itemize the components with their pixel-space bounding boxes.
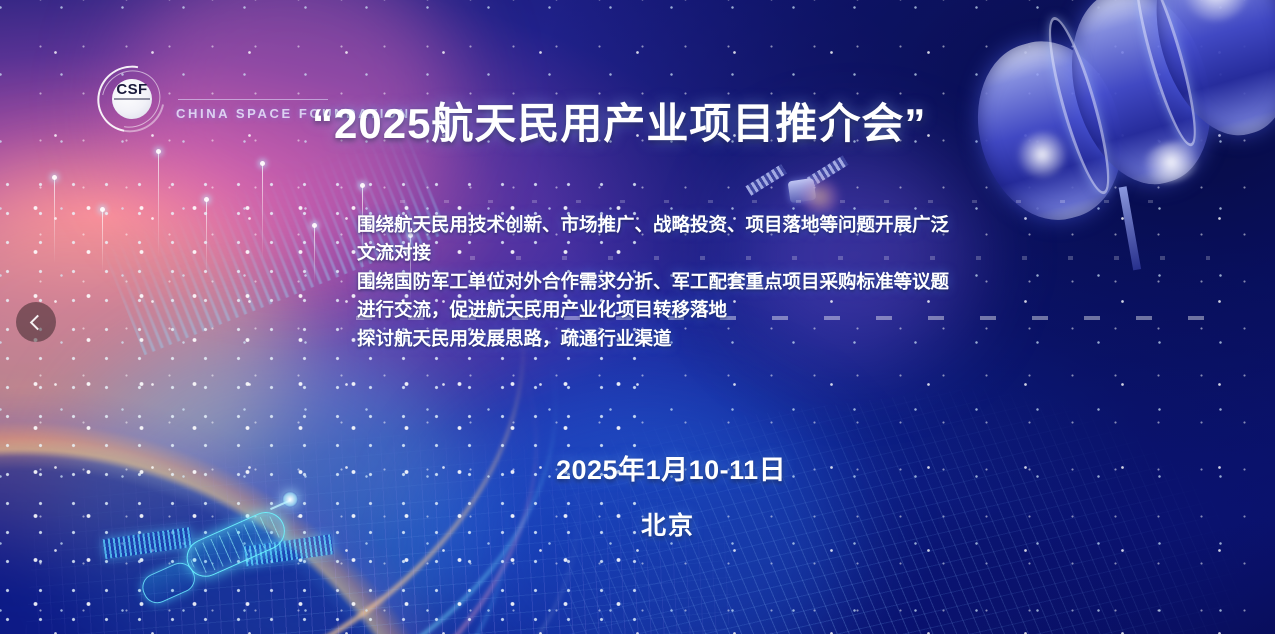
description-block: 围绕航天民用技术创新、市场推广、战略投资、项目落地等问题开展广泛文流对接 围绕国… <box>357 211 957 354</box>
right-gutter <box>1275 0 1283 634</box>
page-title: “2025航天民用产业项目推介会” <box>312 90 926 151</box>
hero-banner[interactable]: CSF CHINA SPACE FOUNDATION “2025航天民用产业项目… <box>0 0 1275 634</box>
banner-content: CSF CHINA SPACE FOUNDATION “2025航天民用产业项目… <box>0 0 1275 634</box>
description-line: 探讨航天民用发展思路，疏通行业渠道 <box>357 325 957 353</box>
event-date: 2025年1月10-11日 <box>556 448 786 487</box>
logo-orbit-ring-inner <box>90 59 171 139</box>
page-root: CSF CHINA SPACE FOUNDATION “2025航天民用产业项目… <box>0 0 1283 634</box>
carousel-prev-button[interactable] <box>16 302 56 342</box>
description-line: 围绕国防军工单位对外合作需求分折、军工配套重点项目采购标准等议题进行交流，促进航… <box>357 268 957 324</box>
description-line: 围绕航天民用技术创新、市场推广、战略投资、项目落地等问题开展广泛文流对接 <box>357 211 957 267</box>
csf-logo-mark-icon: CSF <box>98 68 164 130</box>
event-city: 北京 <box>641 506 695 542</box>
chevron-left-icon <box>30 314 46 330</box>
